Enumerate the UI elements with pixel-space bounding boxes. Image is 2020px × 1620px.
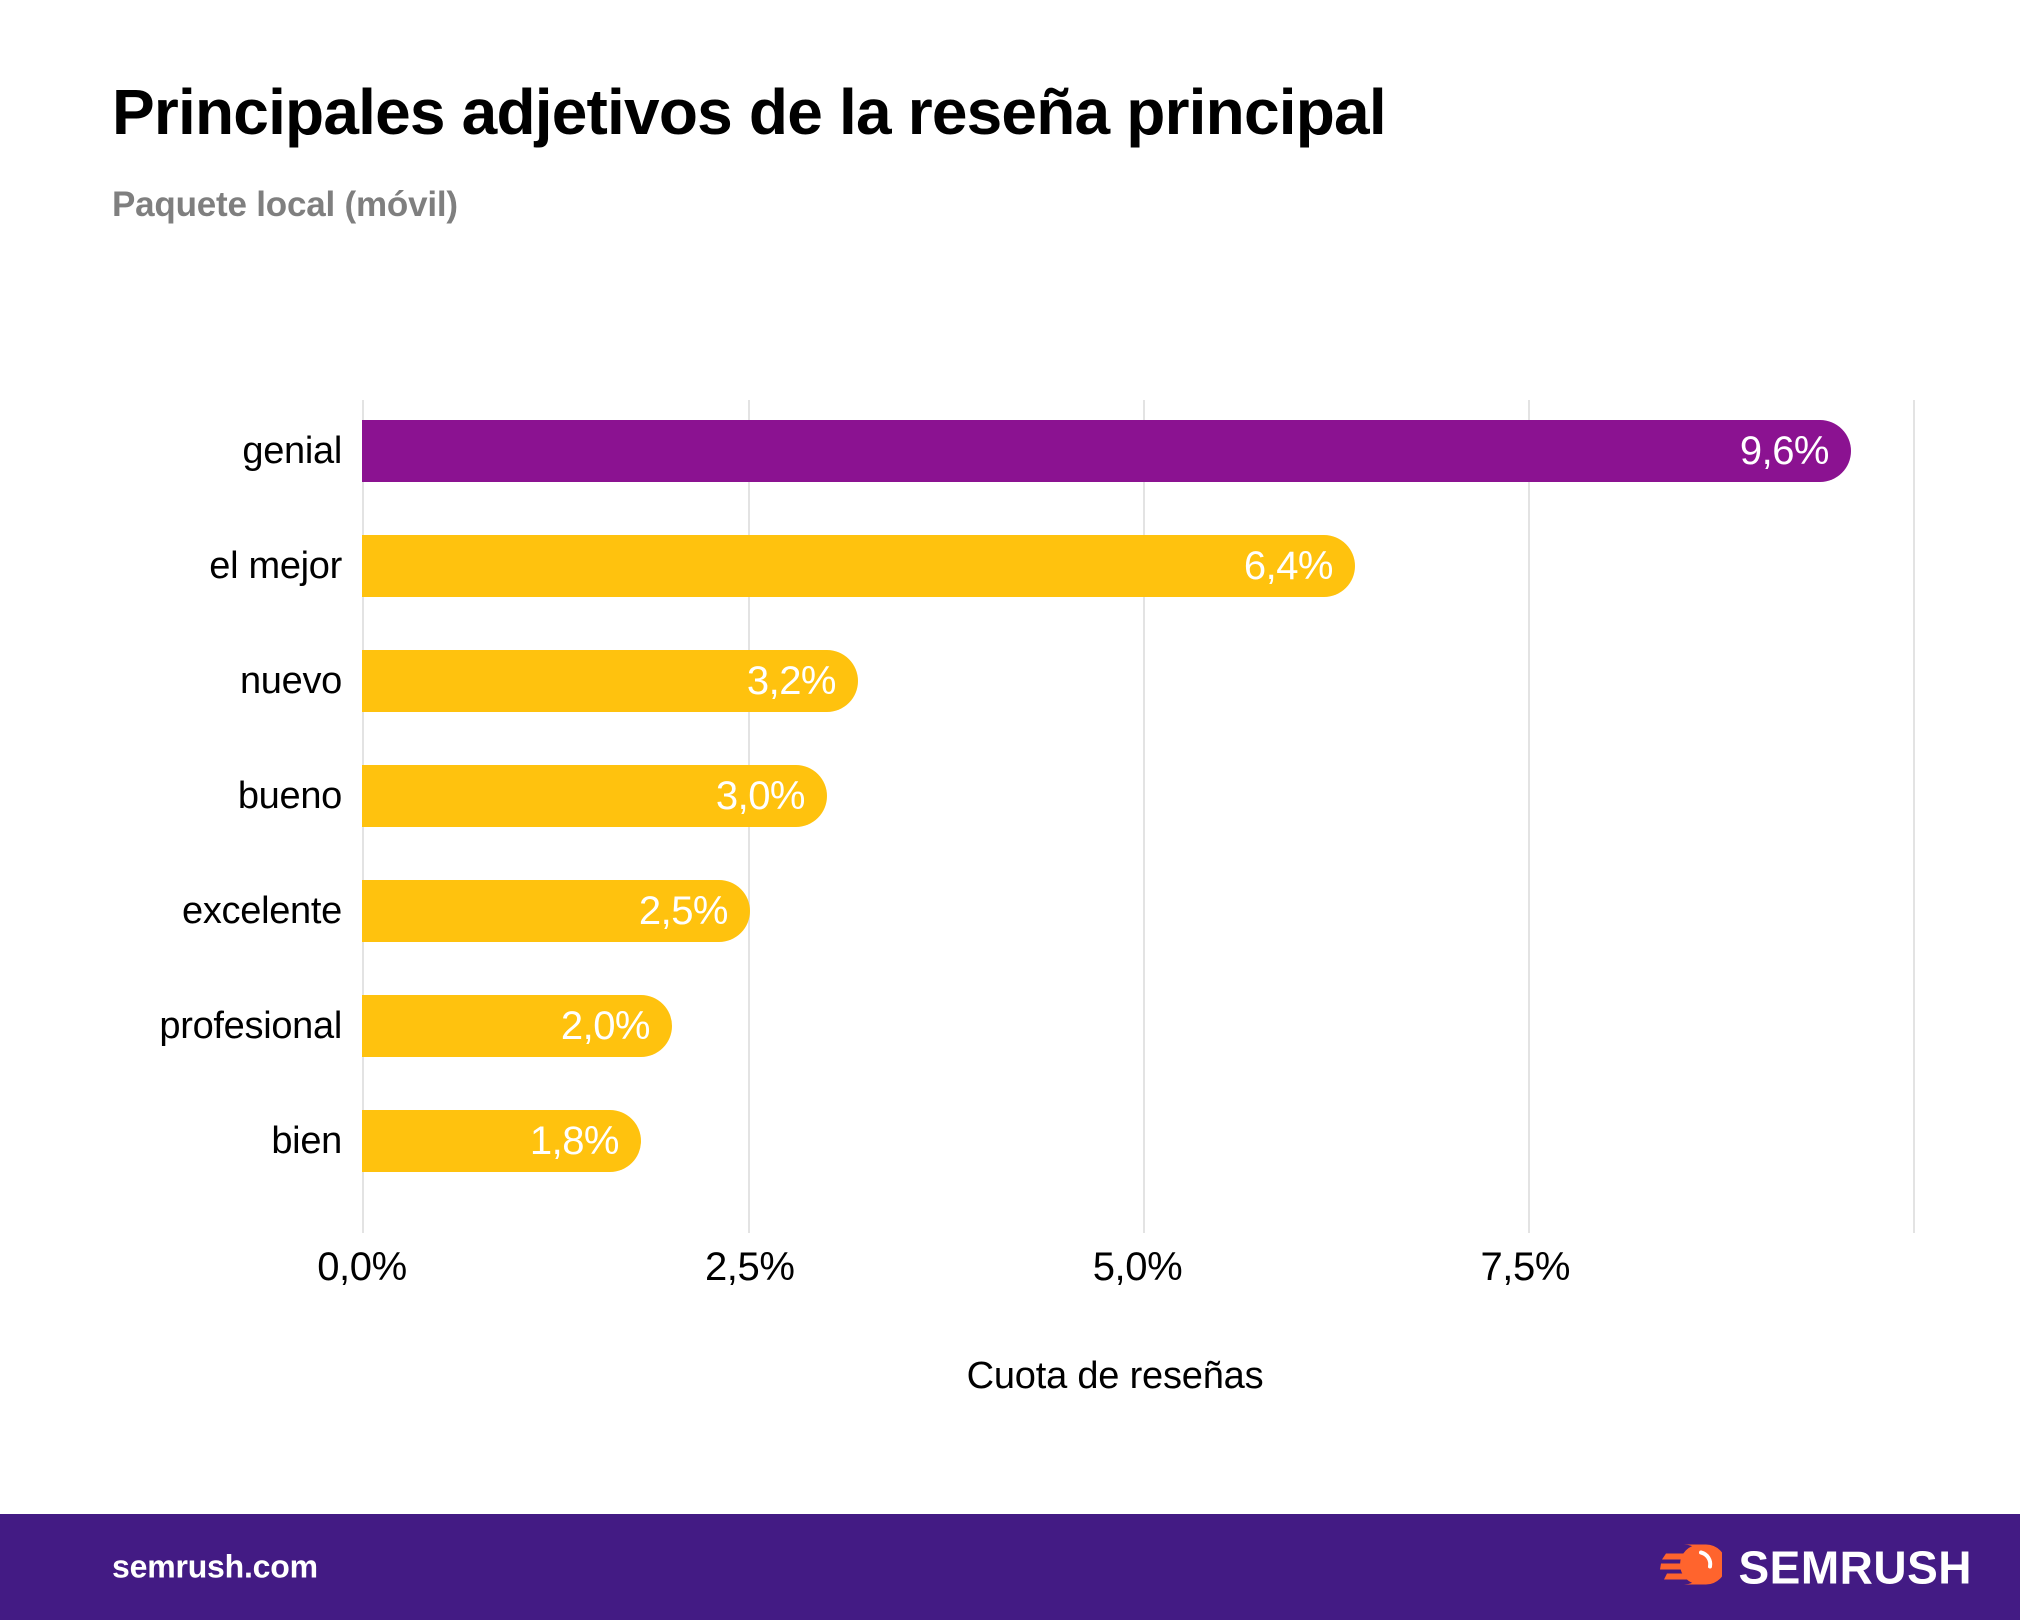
footer-bar: semrush.com SEMRUSH [0,1514,2020,1620]
bar-row: el mejor6,4% [0,535,2020,597]
bar-el-mejor[interactable]: 6,4% [362,535,1355,597]
bar-value-label: 1,8% [530,1110,619,1172]
infographic-page: Principales adjetivos de la reseña princ… [0,0,2020,1620]
page-title: Principales adjetivos de la reseña princ… [112,78,1912,147]
x-tick-label: 0,0% [317,1245,407,1290]
bar-value-label: 2,5% [639,880,728,942]
bar-value-label: 9,6% [1740,420,1829,482]
x-axis-title-text: Cuota de reseñas [757,1355,1264,1398]
bar-rows: genial9,6%el mejor6,4%nuevo3,2%bueno3,0%… [0,400,2020,1233]
x-tick-label: 2,5% [705,1245,795,1290]
bar-excelente[interactable]: 2,5% [362,880,750,942]
bar-row: bien1,8% [0,1110,2020,1172]
bar-bien[interactable]: 1,8% [362,1110,641,1172]
bar-category-label: bien [271,1110,342,1172]
bar-row: excelente2,5% [0,880,2020,942]
semrush-comet-icon [1660,1540,1722,1595]
bar-category-label: bueno [238,765,342,827]
x-axis-ticks: 0,0%2,5%5,0%7,5% [0,1245,2020,1305]
chart-header: Principales adjetivos de la reseña princ… [112,78,1912,225]
bar-category-label: profesional [159,995,342,1057]
bar-value-label: 3,2% [747,650,836,712]
bar-value-label: 6,4% [1244,535,1333,597]
bar-row: nuevo3,2% [0,650,2020,712]
bar-row: profesional2,0% [0,995,2020,1057]
bar-chart: genial9,6%el mejor6,4%nuevo3,2%bueno3,0%… [0,400,2020,1400]
bar-bueno[interactable]: 3,0% [362,765,827,827]
footer-url[interactable]: semrush.com [112,1549,318,1586]
bar-row: bueno3,0% [0,765,2020,827]
bar-genial[interactable]: 9,6% [362,420,1851,482]
x-tick-label: 7,5% [1480,1245,1570,1290]
chart-subtitle: Paquete local (móvil) [112,147,1912,225]
bar-row: genial9,6% [0,420,2020,482]
bar-category-label: excelente [182,880,342,942]
x-axis-title: Cuota de reseñas [0,1355,2020,1398]
semrush-logo[interactable]: SEMRUSH [1660,1540,1972,1595]
x-tick-label: 5,0% [1093,1245,1183,1290]
bar-profesional[interactable]: 2,0% [362,995,672,1057]
bar-value-label: 3,0% [716,765,805,827]
bar-category-label: genial [242,420,342,482]
bar-nuevo[interactable]: 3,2% [362,650,858,712]
bar-category-label: el mejor [209,535,342,597]
semrush-wordmark: SEMRUSH [1738,1544,1972,1590]
bar-category-label: nuevo [240,650,342,712]
bar-value-label: 2,0% [561,995,650,1057]
